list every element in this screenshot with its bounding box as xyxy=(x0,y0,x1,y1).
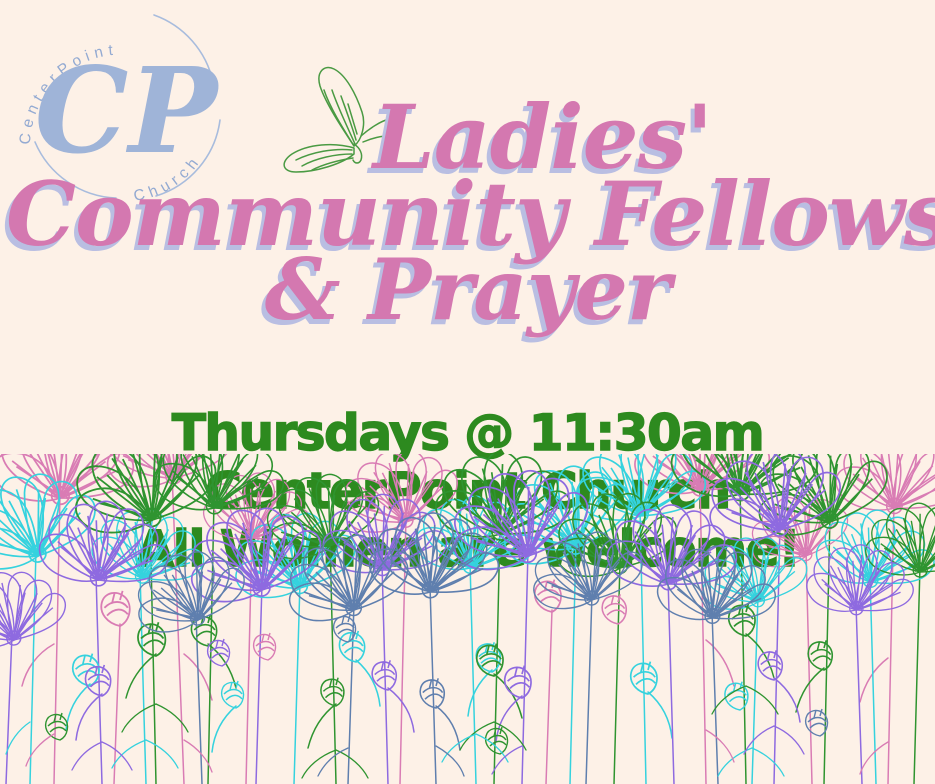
event-invitation: All Women are welcome! xyxy=(0,524,935,574)
butterfly-icon xyxy=(268,60,388,178)
butterfly-graphic xyxy=(268,60,388,178)
event-location: CenterPoint Church xyxy=(0,466,935,516)
floral-foliage xyxy=(6,686,888,778)
event-time: Thursdays @ 11:30am xyxy=(0,408,935,458)
svg-text:CP: CP xyxy=(35,41,221,180)
headline-line-3: & Prayer xyxy=(0,251,935,330)
event-flyer: CenterPoint Church CP xyxy=(0,0,935,784)
logo-graphic: CenterPoint Church CP xyxy=(8,2,238,207)
event-details: Thursdays @ 11:30am CenterPoint Church A… xyxy=(0,408,935,574)
logo-monogram: CP xyxy=(35,41,221,180)
centerpoint-church-logo: CenterPoint Church CP xyxy=(8,2,238,207)
